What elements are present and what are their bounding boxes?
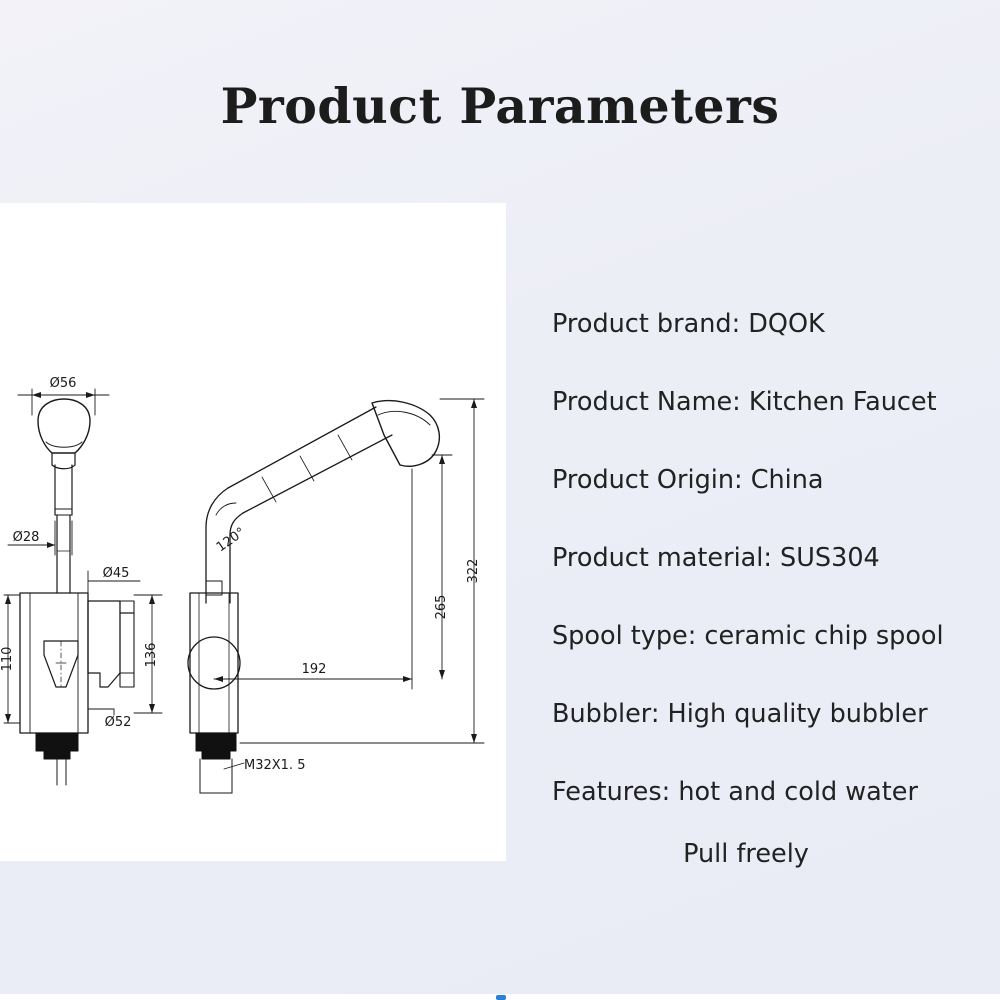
mounting-nut-left — [44, 751, 70, 759]
title-bar: Product Parameters — [0, 0, 1000, 203]
mounting-nut-right — [202, 751, 230, 759]
spec-item-brand: Product brand: DQOK — [552, 285, 1000, 363]
mounting-washer-right — [196, 733, 236, 751]
dim-spray-head-diameter — [18, 389, 109, 415]
dim-label-265: 265 — [434, 595, 449, 620]
dim-label-136: 136 — [144, 643, 159, 668]
spout-arm-seam-2 — [300, 456, 314, 481]
spray-head-inner-arc — [46, 442, 82, 447]
spout-arm-bottom — [243, 435, 392, 513]
handle-outline — [88, 601, 120, 687]
spec-item-bubbler: Bubbler: High quality bubbler — [552, 675, 1000, 753]
elbow-outer — [206, 488, 228, 527]
mounting-washer-left — [36, 733, 78, 751]
faucet-technical-drawing: Ø56 Ø28 — [0, 203, 506, 861]
thread-leader — [224, 763, 244, 769]
product-parameters-page: Product Parameters Ø56 — [0, 0, 1000, 1000]
spec-item-origin: Product Origin: China — [552, 441, 1000, 519]
spout-head-bottom-arc — [400, 451, 436, 466]
specification-list: Product brand: DQOK Product Name: Kitche… — [552, 285, 1000, 877]
dim-label-phi28: Ø28 — [13, 530, 40, 545]
dim-label-phi52: Ø52 — [105, 715, 132, 730]
spec-item-spool-type: Spool type: ceramic chip spool — [552, 597, 1000, 675]
spout-arm-seam-1 — [262, 477, 276, 502]
angle-arc-120 — [216, 503, 236, 515]
right-body-outline — [190, 593, 238, 733]
spout-head-top-arc — [378, 411, 430, 425]
page-indicator-dot — [496, 995, 506, 1000]
dim-label-phi45: Ø45 — [103, 566, 130, 581]
spec-item-name: Product Name: Kitchen Faucet — [552, 363, 1000, 441]
spec-item-features: Features: hot and cold water — [552, 753, 1000, 831]
dim-label-192: 192 — [302, 662, 327, 677]
dim-spout-reach — [214, 469, 412, 689]
spec-item-material: Product material: SUS304 — [552, 519, 1000, 597]
dim-label-thread: M32X1. 5 — [244, 758, 305, 773]
dim-label-322: 322 — [466, 559, 481, 584]
technical-drawing-panel: Ø56 Ø28 — [0, 203, 506, 861]
spout-arm-top — [228, 407, 376, 488]
spout-arm-seam-3 — [338, 435, 352, 460]
dim-label-phi56: Ø56 — [50, 376, 77, 391]
handle-stem — [120, 601, 134, 687]
dim-label-110: 110 — [0, 647, 15, 672]
page-title: Product Parameters — [221, 77, 780, 135]
spec-item-features-continued: Pull freely — [552, 831, 1000, 877]
spray-head-outline — [38, 399, 90, 453]
handle-knob-circle — [188, 637, 240, 689]
dim-spout-height — [432, 455, 452, 679]
spout-head-outline — [372, 401, 439, 467]
